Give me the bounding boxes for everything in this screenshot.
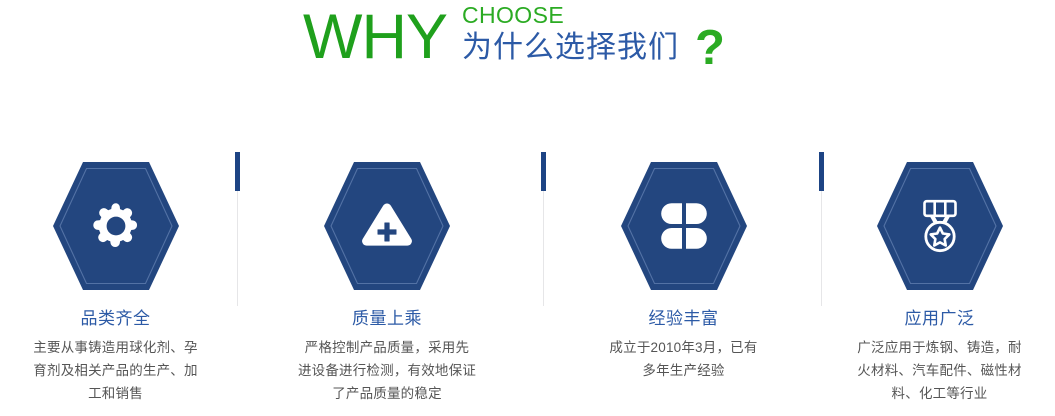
hexagon-badge-4 bbox=[874, 159, 1006, 293]
hexagon-badge-1 bbox=[50, 159, 182, 293]
why-heading: WHY bbox=[303, 2, 447, 72]
question-mark-icon: ? bbox=[695, 27, 725, 69]
card-body-line: 进设备进行检测，有效地保证 bbox=[298, 359, 476, 382]
card-title: 质量上乘 bbox=[352, 308, 422, 330]
header-inner: WHY CHOOSE 为什么选择我们 ? bbox=[303, 0, 725, 72]
feature-card-2[interactable]: 质量上乘 严格控制产品质量，采用先 进设备进行检测，有效地保证 了产品质量的稳定 bbox=[231, 148, 543, 416]
hexagon-badge-3 bbox=[618, 159, 750, 293]
card-body-line: 广泛应用于炼钢、铸造，耐 bbox=[857, 336, 1021, 359]
feature-card-4[interactable]: 应用广泛 广泛应用于炼钢、铸造，耐 火材料、汽车配件、磁性材 料、化工等行业 bbox=[824, 148, 1055, 416]
card-body-line: 育剂及相关产品的生产、加 bbox=[33, 359, 197, 382]
card-body-line: 火材料、汽车配件、磁性材 bbox=[857, 359, 1021, 382]
card-body-line: 严格控制产品质量，采用先 bbox=[298, 336, 476, 359]
section-header: WHY CHOOSE 为什么选择我们 ? bbox=[0, 0, 1055, 92]
card-title: 品类齐全 bbox=[81, 308, 151, 330]
hexagon-badge-2 bbox=[321, 159, 453, 293]
card-title: 经验丰富 bbox=[649, 308, 719, 330]
card-body-line: 主要从事铸造用球化剂、孕 bbox=[33, 336, 197, 359]
card-body-line: 成立于2010年3月，已有 bbox=[609, 336, 757, 359]
cn-subtitle: 为什么选择我们 bbox=[462, 29, 679, 67]
clover-icon bbox=[618, 159, 750, 293]
card-title: 应用广泛 bbox=[905, 308, 975, 330]
gear-icon bbox=[50, 159, 182, 293]
header-text-stack: CHOOSE 为什么选择我们 ? bbox=[462, 2, 725, 69]
medal-icon bbox=[874, 159, 1006, 293]
card-body: 广泛应用于炼钢、铸造，耐 火材料、汽车配件、磁性材 料、化工等行业 bbox=[857, 336, 1021, 405]
card-body-line: 了产品质量的稳定 bbox=[298, 382, 476, 405]
card-body-line: 工和销售 bbox=[33, 382, 197, 405]
feature-cards-row: 品类齐全 主要从事铸造用球化剂、孕 育剂及相关产品的生产、加 工和销售 质量上乘 bbox=[0, 148, 1055, 416]
card-body: 主要从事铸造用球化剂、孕 育剂及相关产品的生产、加 工和销售 bbox=[33, 336, 197, 405]
card-body: 严格控制产品质量，采用先 进设备进行检测，有效地保证 了产品质量的稳定 bbox=[298, 336, 476, 405]
triangle-plus-icon bbox=[321, 159, 453, 293]
card-body-line: 料、化工等行业 bbox=[857, 382, 1021, 405]
feature-card-3[interactable]: 经验丰富 成立于2010年3月，已有 多年生产经验 bbox=[543, 148, 824, 416]
card-body-line: 多年生产经验 bbox=[609, 359, 757, 382]
feature-card-1[interactable]: 品类齐全 主要从事铸造用球化剂、孕 育剂及相关产品的生产、加 工和销售 bbox=[0, 148, 231, 416]
cn-title-row: 为什么选择我们 ? bbox=[462, 29, 725, 69]
choose-heading: CHOOSE bbox=[462, 2, 725, 29]
card-body: 成立于2010年3月，已有 多年生产经验 bbox=[609, 336, 757, 382]
